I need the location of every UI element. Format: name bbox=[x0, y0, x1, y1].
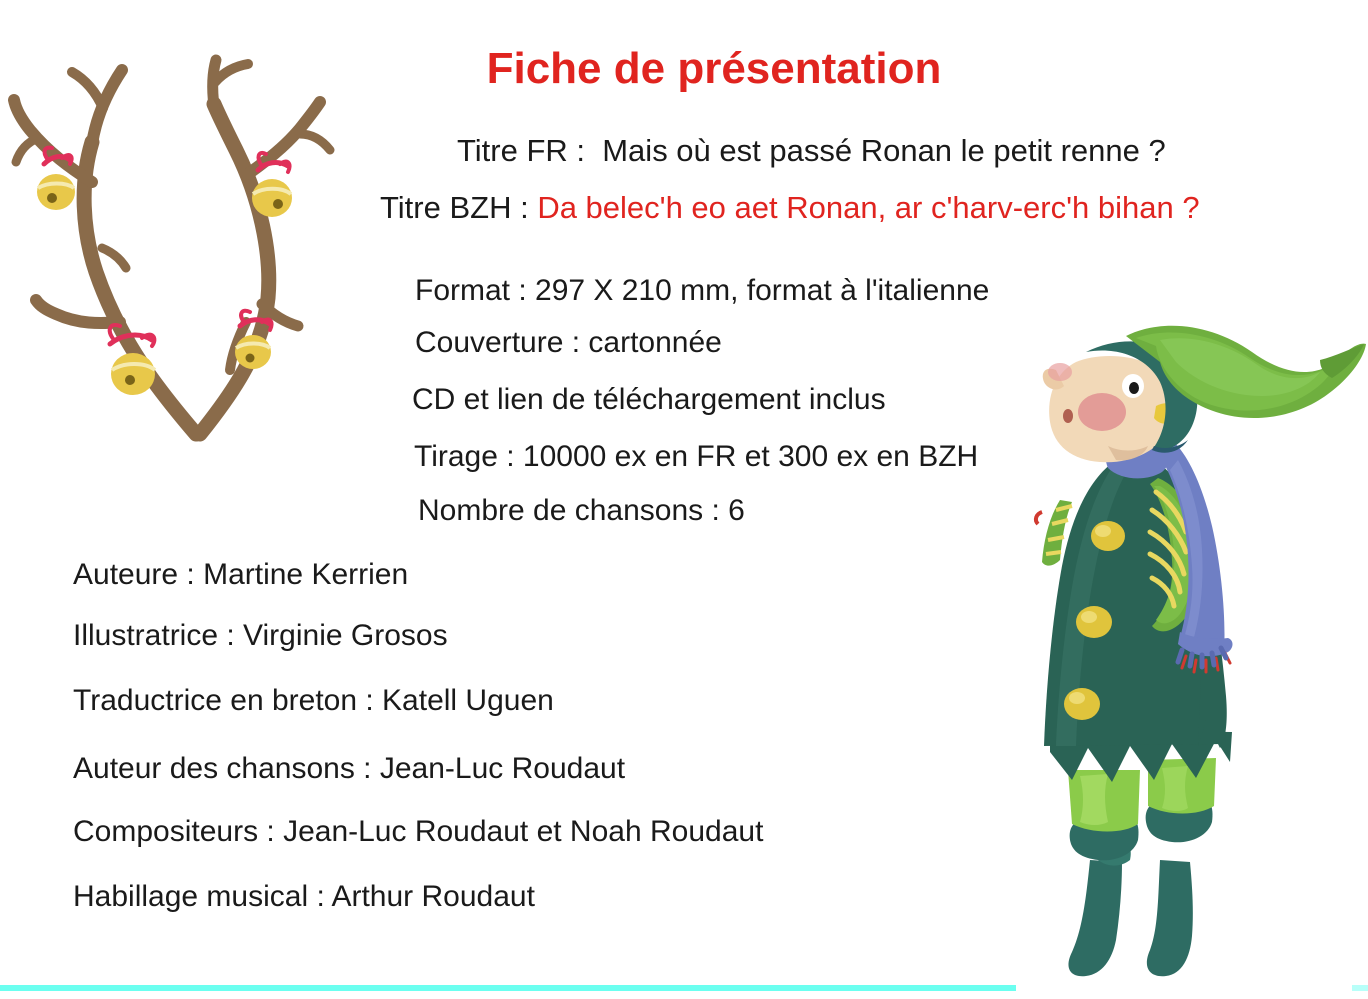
credit-traductrice: Traductrice en breton : Katell Uguen bbox=[73, 684, 554, 718]
bottom-rule bbox=[0, 985, 1016, 991]
detail-nb-chansons: Nombre de chansons : 6 bbox=[418, 494, 745, 528]
credit-compositeurs: Compositeurs : Jean-Luc Roudaut et Noah … bbox=[73, 815, 763, 849]
page-title: Fiche de présentation bbox=[0, 44, 1368, 94]
detail-format: Format : 297 X 210 mm, format à l'italie… bbox=[415, 274, 989, 308]
detail-tirage: Tirage : 10000 ex en FR et 300 ex en BZH bbox=[414, 440, 978, 474]
titre-bzh-line: Titre BZH : Da belec'h eo aet Ronan, ar … bbox=[380, 190, 1200, 226]
titre-bzh-label: Titre BZH : bbox=[380, 190, 537, 225]
credit-auteur-chansons: Auteur des chansons : Jean-Luc Roudaut bbox=[73, 752, 625, 786]
detail-cd-lien: CD et lien de téléchargement inclus bbox=[412, 383, 886, 417]
credit-habillage-musical: Habillage musical : Arthur Roudaut bbox=[73, 880, 535, 914]
titre-fr-value: Mais où est passé Ronan le petit renne ? bbox=[594, 133, 1166, 168]
elf-boots bbox=[1068, 844, 1192, 976]
credit-illustratrice: Illustratrice : Virginie Grosos bbox=[73, 619, 448, 653]
titre-bzh-value: Da belec'h eo aet Ronan, ar c'harv-erc'h… bbox=[537, 190, 1199, 225]
credit-auteure: Auteure : Martine Kerrien bbox=[73, 558, 408, 592]
detail-couverture: Couverture : cartonnée bbox=[415, 326, 722, 360]
titre-fr-label: Titre FR : bbox=[457, 133, 594, 168]
bottom-rule-right-stub bbox=[1352, 985, 1368, 991]
christmas-elf-illustration bbox=[1020, 300, 1368, 990]
presentation-slide: Fiche de présentation Titre FR : Mais où… bbox=[0, 0, 1368, 999]
titre-fr-line: Titre FR : Mais où est passé Ronan le pe… bbox=[457, 133, 1166, 169]
